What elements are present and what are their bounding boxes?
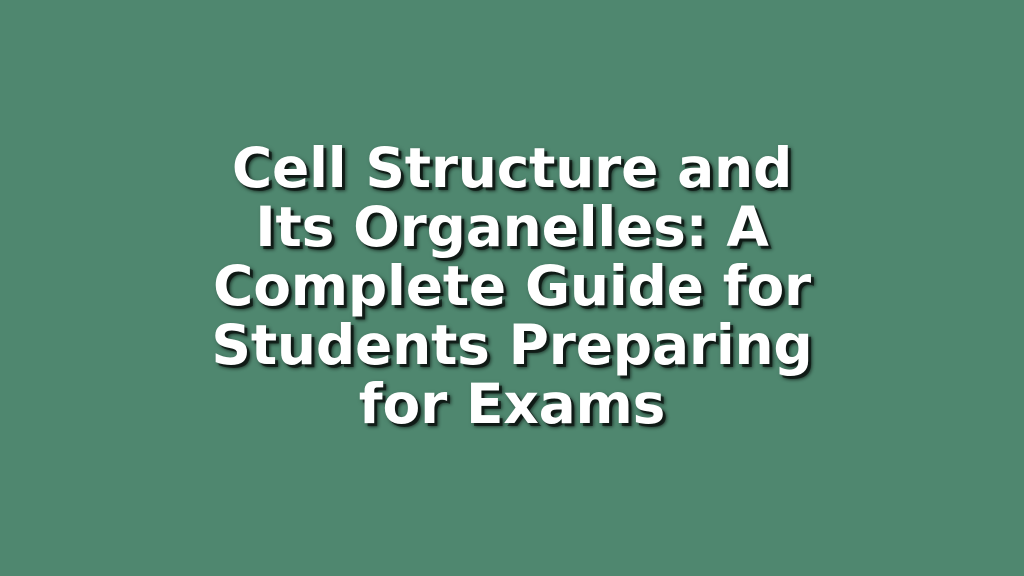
title-card: Cell Structure and Its Organelles: A Com… [0,0,1024,576]
title-line-2: Its Organelles: A [192,198,832,257]
title-line-3: Complete Guide for [192,257,832,316]
title-line-1: Cell Structure and [192,139,832,198]
page-title: Cell Structure and Its Organelles: A Com… [192,139,832,434]
title-line-4: Students Preparing [192,316,832,375]
title-block: Cell Structure and Its Organelles: A Com… [192,139,832,434]
title-line-5: for Exams [192,375,832,434]
